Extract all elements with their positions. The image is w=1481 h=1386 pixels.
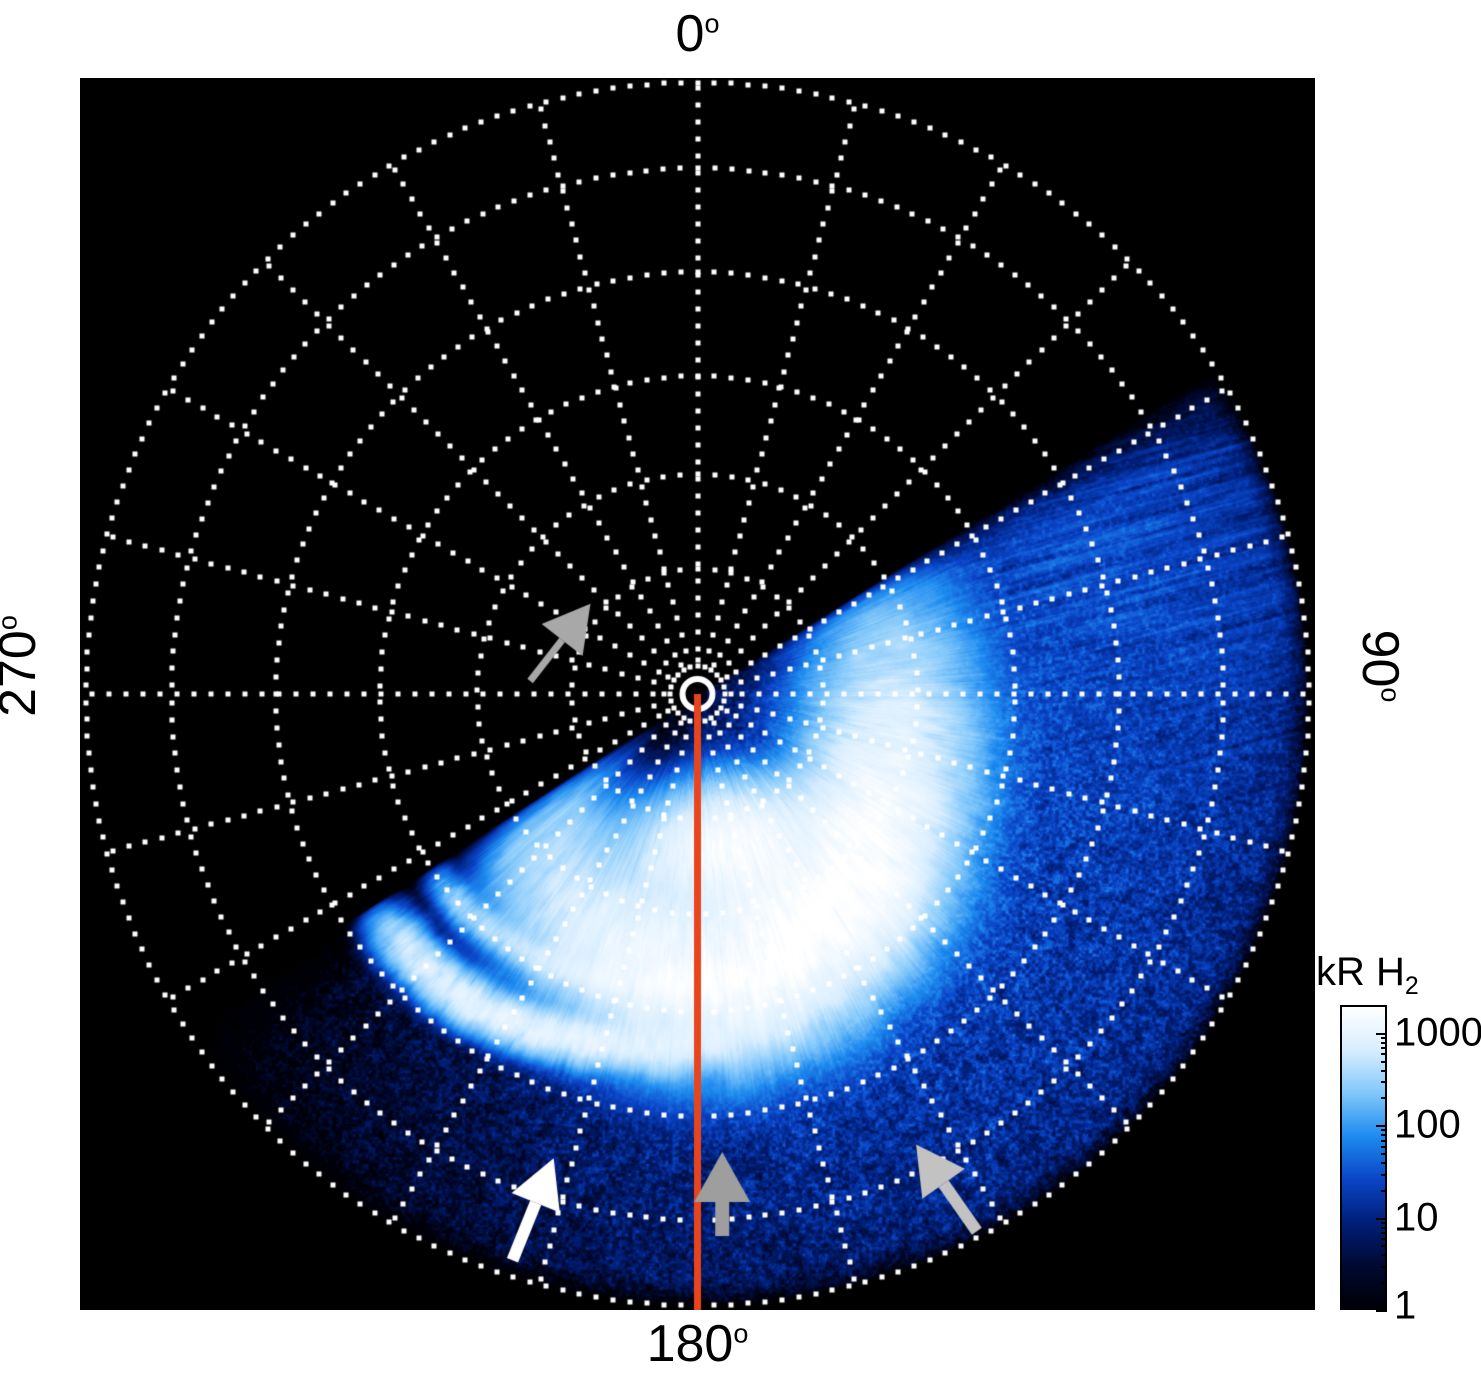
- colorbar-tick-label: 1000: [1394, 1010, 1481, 1055]
- colorbar-tick: [1376, 1218, 1387, 1220]
- colorbar-tick: [1381, 1222, 1387, 1224]
- azimuth-label-0-text: 0: [676, 5, 705, 63]
- colorbar-tick: [1381, 1061, 1387, 1063]
- colorbar-tick: [1376, 1125, 1387, 1127]
- degree-symbol-90: o: [1375, 687, 1405, 702]
- colorbar-tick: [1381, 1238, 1387, 1240]
- colorbar-ticks: [1340, 1005, 1387, 1310]
- colorbar-tick: [1381, 1047, 1387, 1049]
- azimuth-label-180: 180o: [0, 1318, 1395, 1370]
- colorbar-tick: [1381, 1037, 1387, 1039]
- colorbar-tick: [1381, 1129, 1387, 1131]
- colorbar-tick-label: 100: [1394, 1103, 1461, 1148]
- polar-plot-panel: [80, 78, 1315, 1310]
- degree-symbol-180: o: [733, 1319, 748, 1349]
- colorbar-tick: [1381, 1174, 1387, 1176]
- colorbar: kR H2 1000100101: [1316, 950, 1481, 1330]
- colorbar-tick: [1381, 1005, 1387, 1007]
- colorbar-tick: [1376, 1033, 1387, 1035]
- colorbar-tick: [1381, 1190, 1387, 1192]
- colorbar-tick: [1381, 1070, 1387, 1072]
- colorbar-tick: [1381, 1146, 1387, 1148]
- annotation-arrows-layer: [80, 78, 1315, 1310]
- azimuth-label-90: 90o: [1354, 586, 1406, 746]
- colorbar-tick: [1381, 1153, 1387, 1155]
- colorbar-tick: [1376, 1310, 1387, 1312]
- colorbar-title-main: kR H: [1316, 950, 1405, 994]
- colorbar-tick-label: 10: [1394, 1195, 1439, 1240]
- azimuth-label-180-text: 180: [647, 1315, 734, 1373]
- colorbar-tick: [1381, 1081, 1387, 1083]
- colorbar-tick: [1381, 1140, 1387, 1142]
- colorbar-tick: [1381, 1227, 1387, 1229]
- azimuth-label-270: 270o: [0, 586, 44, 746]
- colorbar-title-subscript: 2: [1405, 973, 1419, 1000]
- colorbar-tick-label: 1: [1394, 1284, 1416, 1329]
- degree-symbol-0: o: [704, 9, 719, 39]
- colorbar-tick: [1381, 1232, 1387, 1234]
- colorbar-tick: [1381, 1254, 1387, 1256]
- colorbar-tick: [1381, 1162, 1387, 1164]
- azimuth-label-270-text: 270: [0, 630, 47, 717]
- colorbar-title: kR H2: [1316, 950, 1419, 995]
- polar-aurora-figure: 0o 180o 270o 90o kR H2 1000100101: [0, 0, 1481, 1386]
- colorbar-tick: [1381, 1245, 1387, 1247]
- colorbar-tick: [1381, 1097, 1387, 1099]
- colorbar-tick: [1381, 1134, 1387, 1136]
- azimuth-label-0: 0o: [0, 8, 1395, 60]
- colorbar-tick: [1381, 1266, 1387, 1268]
- colorbar-tick: [1381, 1282, 1387, 1284]
- colorbar-tick: [1381, 1042, 1387, 1044]
- colorbar-tick: [1381, 1053, 1387, 1055]
- degree-symbol-270: o: [0, 615, 23, 630]
- azimuth-label-90-text: 90: [1351, 630, 1409, 688]
